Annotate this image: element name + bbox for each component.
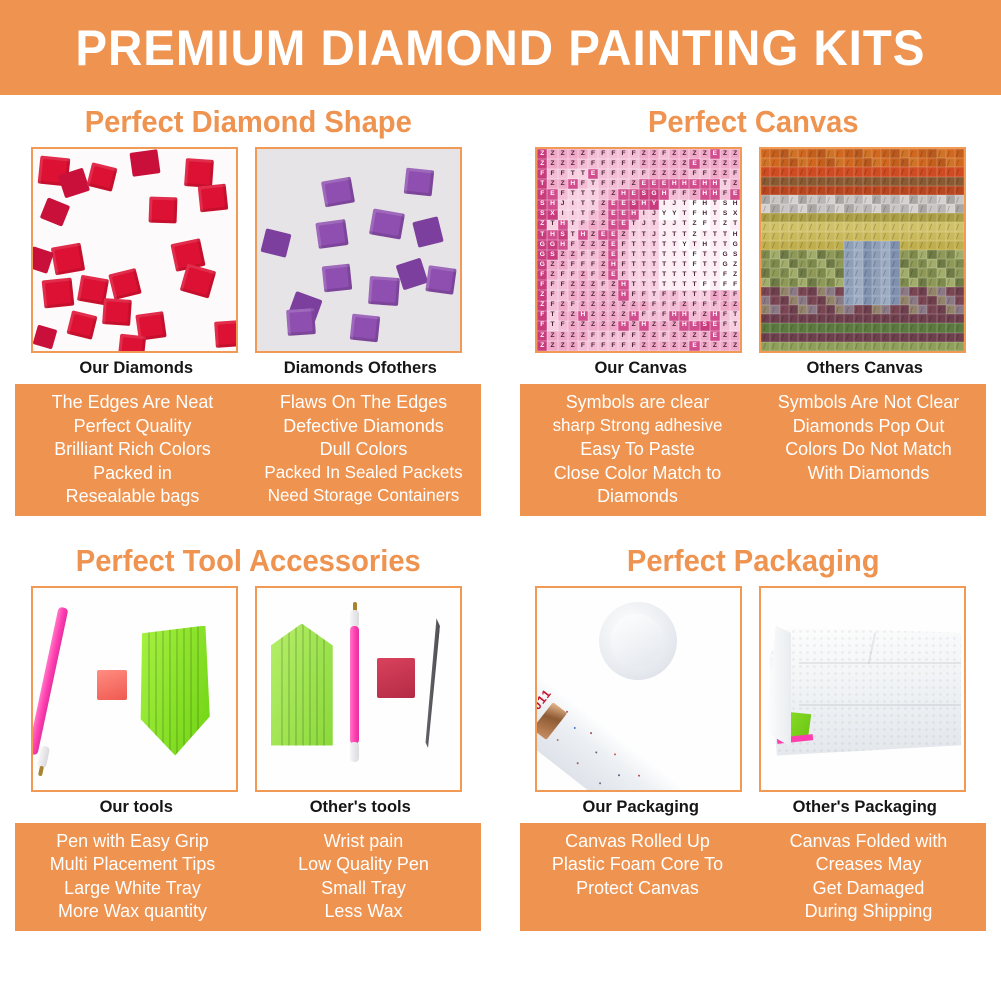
bullet-line: Pen with Easy Grip [21, 829, 245, 853]
cell-caption: Our tools [31, 798, 242, 817]
bag-fold-line [799, 704, 961, 706]
section-canvas: Perfect Canvas ZZZZZFFFFFZZFZZZZEZZZZZZF… [505, 95, 1001, 516]
bullets-panel: Symbols are clear sharp Strong adhesive … [520, 384, 986, 516]
cell-caption: Other's Packaging [759, 798, 970, 817]
bullet-line: Symbols are clear [525, 390, 749, 414]
section-title: Perfect Packaging [519, 544, 986, 578]
bullet-line: Get Damaged [756, 876, 980, 900]
comparison-cell-others: Other's Packaging [759, 586, 970, 823]
bullet-line: Multi Placement Tips [21, 852, 245, 876]
bullet-line: More Wax quantity [21, 899, 245, 923]
pink-pen-wax-large-green-tray-photo [31, 586, 238, 792]
comparison-pair: Our tools [0, 586, 497, 823]
wax-square [377, 658, 415, 698]
bullets-ours: Symbols are clear sharp Strong adhesive … [525, 390, 749, 508]
folded-canvas-bubble-mailer-photo [759, 586, 966, 792]
drill-tray-small [271, 624, 333, 746]
comparison-cell-ours: Our Diamonds [31, 147, 242, 384]
comparison-cell-others: Diamonds Ofothers [255, 147, 466, 384]
bullet-line: Canvas Rolled Up [525, 829, 749, 853]
bullet-line: sharp Strong adhesive [525, 414, 749, 438]
pen-tip-top [350, 610, 359, 628]
green-tray-pen-wax-tweezers-photo [255, 586, 462, 792]
muddy-symbol-canvas-photo [759, 147, 966, 353]
bullet-line: Creases May [756, 852, 980, 876]
comparison-cell-ours: ZZZZZFFFFFZZFZZZZEZZZZZZFFFFFFZZZZZEZZZZ… [535, 147, 746, 384]
tools-scene [33, 588, 236, 790]
pink-symbol-canvas-photo: ZZZZZFFFFFZZFZZZZEZZZZZZFFFFFFZZZZZEZZZZ… [535, 147, 742, 353]
tube-print-dots [535, 664, 724, 792]
bullet-line: Small Tray [252, 876, 476, 900]
symbol-grid-blurred [761, 149, 964, 351]
purple-square-diamonds-photo [255, 147, 462, 353]
comparison-pair: ZZZZZFFFFFZZFZZZZEZZZZZZFFFFFFZZZZZEZZZZ… [505, 147, 1001, 384]
packaging-scene [761, 588, 964, 790]
tray-grooves [271, 624, 333, 746]
section-packaging: Perfect Packaging [505, 534, 1001, 931]
pen-grip-bottom [350, 742, 359, 762]
bullet-line: The Edges Are Neat [21, 390, 245, 414]
sections-row-top: Perfect Diamond Shape [0, 95, 1001, 516]
bullets-panel: The Edges Are Neat Perfect Quality Brill… [15, 384, 481, 516]
bullet-line: Plastic Foam Core To [525, 852, 749, 876]
bullet-line: Canvas Folded with [756, 829, 980, 853]
red-square-diamonds-photo [31, 147, 238, 353]
bullet-line: During Shipping [756, 899, 980, 923]
page-title: PREMIUM DIAMOND PAINTING KITS [75, 23, 925, 73]
bullets-ours: The Edges Are Neat Perfect Quality Brill… [21, 390, 245, 508]
tray-grooves [138, 626, 210, 756]
bullets-others: Canvas Folded with Creases May Get Damag… [756, 829, 980, 923]
bullet-line: Flaws On The Edges [252, 390, 476, 414]
bullets-others: Symbols Are Not Clear Diamonds Pop Out C… [756, 390, 980, 508]
cell-caption: Others Canvas [759, 359, 970, 378]
bullet-line: Easy To Paste [525, 437, 749, 461]
cell-caption: Our Diamonds [31, 359, 242, 378]
bullet-line: Large White Tray [21, 876, 245, 900]
bullet-line: Symbols Are Not Clear [756, 390, 980, 414]
cell-caption: Other's tools [255, 798, 466, 817]
comparison-cell-ours: Our tools [31, 586, 242, 823]
cell-caption: Diamonds Ofothers [255, 359, 466, 378]
bullet-line: Defective Diamonds [252, 414, 476, 438]
packaging-scene: 5-011 [537, 588, 740, 790]
tube-cap-cone [611, 614, 663, 666]
bullet-line: Packed In Sealed Packets [252, 461, 476, 485]
drill-pen [31, 606, 68, 755]
bullets-ours: Canvas Rolled Up Plastic Foam Core To Pr… [525, 829, 749, 923]
bullets-panel: Pen with Easy Grip Multi Placement Tips … [15, 823, 481, 931]
bullet-line: Resealable bags [21, 484, 245, 508]
symbol-grid: ZZZZZFFFFFZZFZZZZEZZZZZZFFFFFFZZZZZEZZZZ… [537, 149, 740, 351]
bullet-line: Low Quality Pen [252, 852, 476, 876]
comparison-pair: 5-011 Our Packaging [505, 586, 1001, 823]
diamond-scene-white [33, 149, 236, 351]
bullet-line: Wrist pain [252, 829, 476, 853]
cell-caption: Our Packaging [535, 798, 746, 817]
cell-caption: Our Canvas [535, 359, 746, 378]
bullet-line: Diamonds Pop Out [756, 414, 980, 438]
bullets-others: Wrist pain Low Quality Pen Small Tray Le… [252, 829, 476, 923]
bullet-line: With Diamonds [756, 461, 980, 485]
comparison-cell-others: Other's tools [255, 586, 466, 823]
bag-flap [765, 626, 791, 750]
bullet-line: Perfect Quality [21, 414, 245, 438]
pen-needle [38, 765, 44, 776]
bullets-others: Flaws On The Edges Defective Diamonds Du… [252, 390, 476, 508]
section-title: Perfect Tool Accessories [15, 544, 482, 578]
section-title: Perfect Canvas [519, 105, 986, 139]
canvas-rolled-in-tube-photo: 5-011 [535, 586, 742, 792]
page-header: PREMIUM DIAMOND PAINTING KITS [0, 0, 1001, 95]
section-title: Perfect Diamond Shape [15, 105, 482, 139]
comparison-cell-ours: 5-011 Our Packaging [535, 586, 746, 823]
tools-scene [257, 588, 460, 790]
infographic-page: PREMIUM DIAMOND PAINTING KITS Perfect Di… [0, 0, 1001, 1001]
diamond-scene-gray [257, 149, 460, 351]
bag-fold-line [799, 662, 961, 664]
bullet-line: Close Color Match to [525, 461, 749, 485]
bullet-line: Colors Do Not Match [756, 437, 980, 461]
bullet-line: Need Storage Containers [252, 484, 476, 508]
tweezers [422, 617, 440, 747]
bullet-line: Packed in [21, 461, 245, 485]
section-tool-accessories: Perfect Tool Accessories [0, 534, 497, 931]
wax-square [97, 670, 127, 700]
section-diamond-shape: Perfect Diamond Shape [0, 95, 497, 516]
bullets-panel: Canvas Rolled Up Plastic Foam Core To Pr… [520, 823, 986, 931]
bullet-line: Dull Colors [252, 437, 476, 461]
bullet-line: Brilliant Rich Colors [21, 437, 245, 461]
rolled-canvas-tube: 5-011 [535, 664, 724, 792]
bullets-ours: Pen with Easy Grip Multi Placement Tips … [21, 829, 245, 923]
bullet-line: Diamonds [525, 484, 749, 508]
bullet-line: Protect Canvas [525, 876, 749, 900]
bullet-line: Less Wax [252, 899, 476, 923]
drill-pen [350, 626, 359, 744]
sections-row-bottom: Perfect Tool Accessories [0, 534, 1001, 931]
drill-tray [138, 626, 210, 756]
comparison-pair: Our Diamonds [0, 147, 497, 384]
comparison-cell-others: Others Canvas [759, 147, 970, 384]
